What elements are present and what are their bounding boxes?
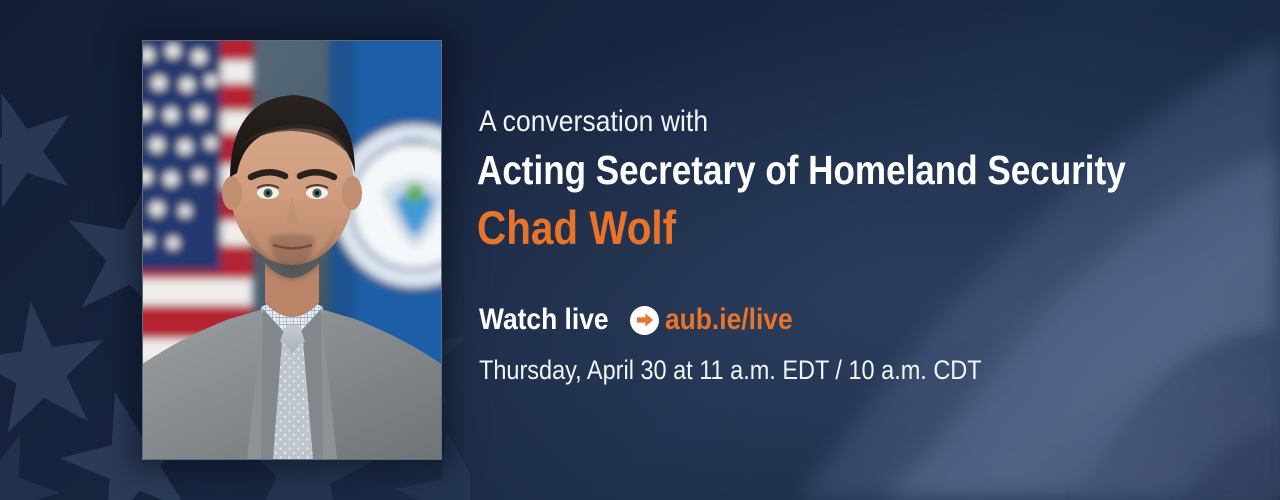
svg-text:U.S.: U.S. bbox=[403, 133, 426, 148]
banner-text-block: A conversation with Acting Secretary of … bbox=[479, 0, 1239, 500]
arrow-right-circle-icon bbox=[630, 306, 659, 335]
page-title: Acting Secretary of Homeland Security bbox=[477, 147, 1126, 194]
event-datetime: Thursday, April 30 at 11 a.m. EDT / 10 a… bbox=[479, 355, 982, 386]
kicker-text: A conversation with bbox=[479, 105, 708, 139]
speaker-portrait: U.S. bbox=[142, 40, 442, 460]
event-promo-banner: U.S. bbox=[0, 0, 1280, 500]
watch-live-row[interactable]: Watch live aub.ie/live bbox=[479, 303, 810, 337]
watch-live-label: Watch live bbox=[479, 303, 609, 337]
speaker-name: Chad Wolf bbox=[477, 200, 676, 255]
watch-live-url[interactable]: aub.ie/live bbox=[665, 303, 793, 337]
